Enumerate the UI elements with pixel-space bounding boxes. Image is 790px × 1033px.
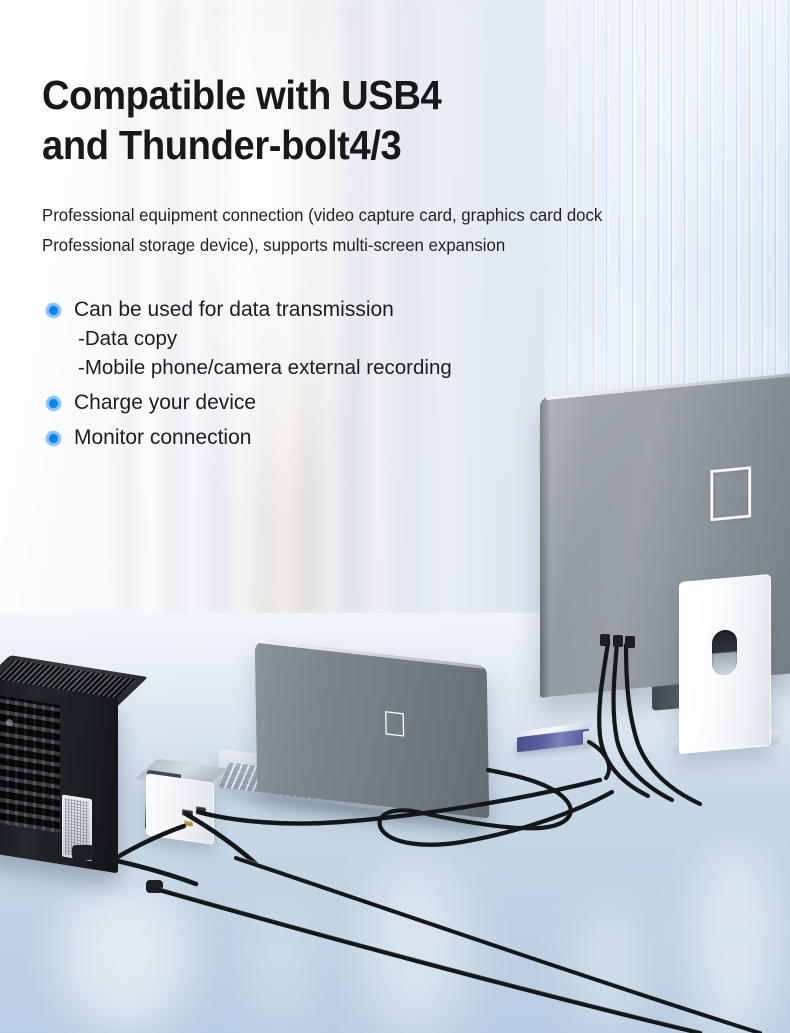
egpu-rear-panel — [62, 794, 92, 861]
bullet-dot-icon — [46, 303, 61, 318]
feature-label: Monitor connection — [74, 424, 452, 452]
feature-sub-item: -Data copy — [74, 324, 452, 353]
ssd-end-cap — [583, 730, 594, 748]
macbook-pro-laptop:  — [255, 640, 490, 819]
bullet-dot-icon — [46, 396, 61, 411]
apple-logo-icon:  — [703, 455, 759, 534]
cube-dock-port — [196, 806, 206, 813]
list-item: Charge your device — [46, 389, 452, 417]
egpu-mesh-grille — [0, 694, 60, 833]
list-item: Can be used for data transmission -Data … — [46, 296, 452, 382]
apple-logo-icon:  — [382, 706, 408, 743]
monitor-stand-plate — [679, 574, 771, 754]
egpu-panel-mesh — [65, 798, 89, 858]
egpu-graphics-card-dock — [0, 678, 118, 874]
page-title: Compatible with USB4 and Thunder-bolt4/3 — [42, 70, 563, 170]
desk-reflection — [60, 880, 190, 1030]
subtitle-description: Professional equipment connection (video… — [42, 200, 714, 260]
desk-reflection — [250, 905, 310, 1025]
feature-list: Can be used for data transmission -Data … — [46, 296, 452, 459]
stand-cable-hole — [712, 629, 737, 676]
feature-sub-item: -Mobile phone/camera external recording — [74, 353, 452, 382]
feature-label: Can be used for data transmission — [74, 296, 452, 324]
feature-label: Charge your device — [74, 389, 452, 417]
cube-dock-port — [184, 820, 193, 826]
desk-reflection — [690, 845, 780, 1033]
desk-reflection — [360, 860, 470, 1033]
list-item: Monitor connection — [46, 424, 452, 452]
desk-reflection — [575, 900, 645, 1030]
bullet-dot-icon — [46, 431, 61, 446]
product-feature-banner:   — [0, 0, 790, 1033]
